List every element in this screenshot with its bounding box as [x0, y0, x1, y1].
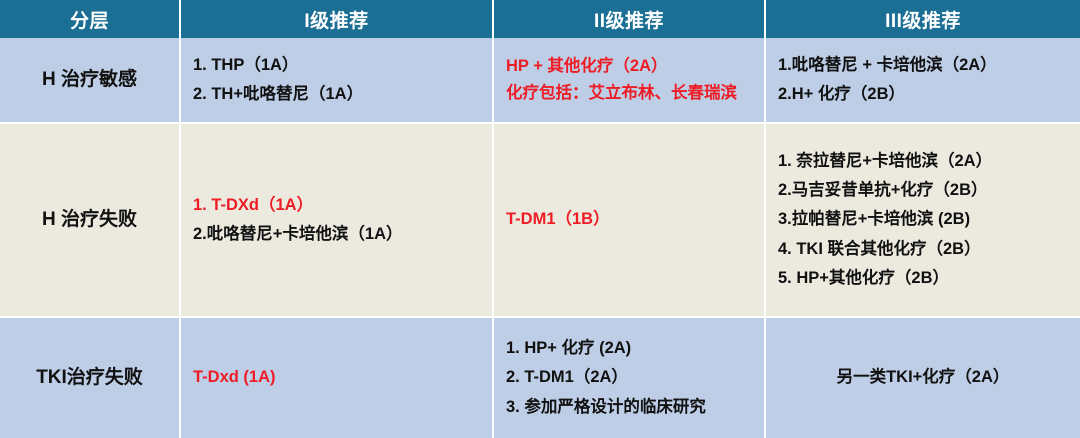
- level-2-cell: T-DM1（1B）: [493, 123, 765, 317]
- treatment-recommendation-table: 分层 I级推荐 II级推荐 III级推荐 H 治疗敏感 1. THP（1A） 2…: [0, 0, 1080, 438]
- stratum-cell: H 治疗敏感: [0, 38, 180, 123]
- column-header-stratum: 分层: [0, 0, 180, 38]
- recommendation-item: 3. 参加严格设计的临床研究: [506, 394, 752, 421]
- recommendation-item: 1. T-DXd（1A）: [193, 192, 480, 219]
- recommendation-item: 1. HP+ 化疗 (2A): [506, 335, 752, 362]
- stratum-cell: TKI治疗失败: [0, 317, 180, 438]
- level-1-cell: 1. THP（1A） 2. TH+吡咯替尼（1A）: [180, 38, 493, 123]
- level-1-cell: T-Dxd (1A): [180, 317, 493, 438]
- recommendation-item: 5. HP+其他化疗（2B）: [778, 265, 1068, 292]
- recommendation-item: 1.吡咯替尼 + 卡培他滨（2A）: [778, 52, 1068, 79]
- recommendation-item: 1. THP（1A）: [193, 52, 480, 79]
- recommendation-item: 另一类TKI+化疗（2A）: [778, 364, 1068, 391]
- table-row: H 治疗敏感 1. THP（1A） 2. TH+吡咯替尼（1A） HP + 其他…: [0, 38, 1080, 123]
- level-3-cell: 1. 奈拉替尼+卡培他滨（2A） 2.马吉妥昔单抗+化疗（2B） 3.拉帕替尼+…: [765, 123, 1080, 317]
- level-3-cell: 1.吡咯替尼 + 卡培他滨（2A） 2.H+ 化疗（2B）: [765, 38, 1080, 123]
- recommendation-item: 2.马吉妥昔单抗+化疗（2B）: [778, 177, 1068, 204]
- recommendation-table-container: 分层 I级推荐 II级推荐 III级推荐 H 治疗敏感 1. THP（1A） 2…: [0, 0, 1080, 438]
- column-header-level-3: III级推荐: [765, 0, 1080, 38]
- level-3-cell: 另一类TKI+化疗（2A）: [765, 317, 1080, 438]
- column-header-level-1: I级推荐: [180, 0, 493, 38]
- recommendation-note: 化疗包括：艾立布林、长春瑞滨: [506, 80, 752, 107]
- recommendation-item: 2. TH+吡咯替尼（1A）: [193, 81, 480, 108]
- table-header: 分层 I级推荐 II级推荐 III级推荐: [0, 0, 1080, 38]
- recommendation-item: T-DM1（1B）: [506, 206, 752, 233]
- recommendation-item: 1. 奈拉替尼+卡培他滨（2A）: [778, 148, 1068, 175]
- recommendation-item: 2.H+ 化疗（2B）: [778, 81, 1068, 108]
- recommendation-item: HP + 其他化疗（2A）: [506, 53, 752, 80]
- level-2-cell: HP + 其他化疗（2A） 化疗包括：艾立布林、长春瑞滨: [493, 38, 765, 123]
- table-body: H 治疗敏感 1. THP（1A） 2. TH+吡咯替尼（1A） HP + 其他…: [0, 38, 1080, 438]
- table-row: TKI治疗失败 T-Dxd (1A) 1. HP+ 化疗 (2A) 2. T-D…: [0, 317, 1080, 438]
- recommendation-item: 4. TKI 联合其他化疗（2B）: [778, 236, 1068, 263]
- stratum-cell: H 治疗失败: [0, 123, 180, 317]
- table-row: H 治疗失败 1. T-DXd（1A） 2.吡咯替尼+卡培他滨（1A） T-DM…: [0, 123, 1080, 317]
- recommendation-item: 2. T-DM1（2A）: [506, 364, 752, 391]
- recommendation-item: 3.拉帕替尼+卡培他滨 (2B): [778, 206, 1068, 233]
- level-2-cell: 1. HP+ 化疗 (2A) 2. T-DM1（2A） 3. 参加严格设计的临床…: [493, 317, 765, 438]
- column-header-level-2: II级推荐: [493, 0, 765, 38]
- level-1-cell: 1. T-DXd（1A） 2.吡咯替尼+卡培他滨（1A）: [180, 123, 493, 317]
- recommendation-item: 2.吡咯替尼+卡培他滨（1A）: [193, 221, 480, 248]
- header-row: 分层 I级推荐 II级推荐 III级推荐: [0, 0, 1080, 38]
- recommendation-item: T-Dxd (1A): [193, 364, 480, 391]
